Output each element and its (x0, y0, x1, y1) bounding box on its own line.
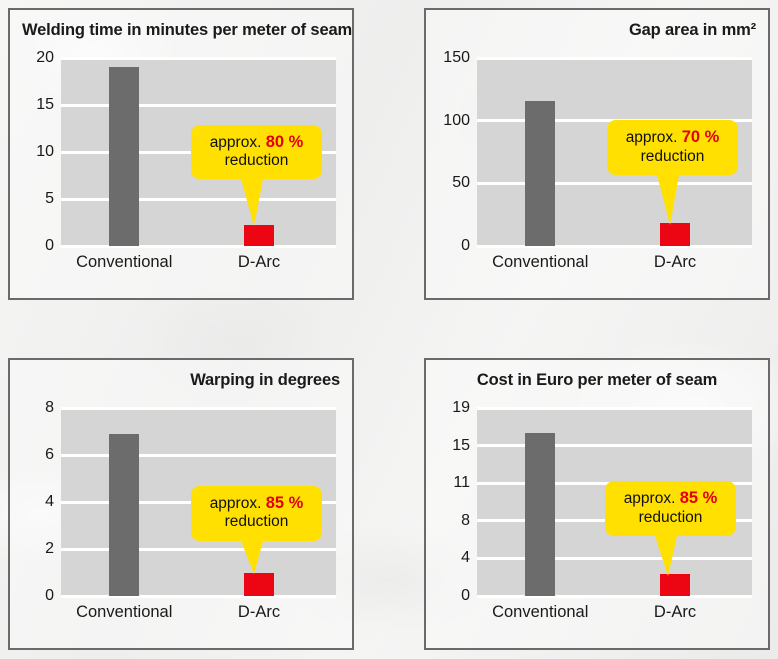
callout-percent-value: 85 % (680, 489, 718, 507)
y-axis-tick-label: 5 (45, 191, 54, 207)
plot-area: 050100150ConventionalD-Arcapprox. 70 %re… (477, 58, 752, 246)
callout-tail (657, 175, 679, 225)
plot-area: 02468ConventionalD-Arcapprox. 85 %reduct… (61, 408, 336, 596)
bar-conventional (525, 101, 555, 246)
x-axis-tick-label: Conventional (492, 603, 588, 622)
reduction-callout: approx. 70 %reduction (607, 120, 738, 175)
x-axis-tick-label: Conventional (492, 253, 588, 272)
callout-percent-value: 80 % (266, 133, 304, 151)
chart-panel-warping: Warping in degrees 02468ConventionalD-Ar… (8, 358, 354, 650)
callout-tail (655, 536, 677, 576)
callout-primary-line: approx. 70 % (613, 128, 732, 147)
callout-percent-value: 70 % (682, 128, 720, 146)
bar-conventional (525, 433, 555, 596)
plot-wrapper: 05101520ConventionalD-Arcapprox. 80 %red… (10, 46, 352, 298)
gridline (477, 182, 752, 185)
y-axis-tick-label: 0 (45, 238, 54, 254)
gridline (477, 407, 752, 410)
callout-tail (241, 541, 263, 574)
y-axis-tick-label: 4 (461, 550, 470, 566)
y-axis-tick-label: 15 (452, 438, 470, 454)
x-axis-tick-label: Conventional (76, 253, 172, 272)
y-axis-tick-label: 6 (45, 447, 54, 463)
plot-wrapper: 050100150ConventionalD-Arcapprox. 70 %re… (426, 46, 768, 298)
y-axis-tick-label: 8 (461, 513, 470, 529)
chart-title: Welding time in minutes per meter of sea… (22, 19, 340, 41)
y-axis-tick-label: 0 (461, 238, 470, 254)
chart-panel-gap-area: Gap area in mm² 050100150ConventionalD-A… (424, 8, 770, 300)
gridline (477, 557, 752, 560)
gridline (477, 57, 752, 60)
gridline (477, 595, 752, 598)
y-axis-tick-label: 0 (461, 588, 470, 604)
x-axis-tick-label: Conventional (76, 603, 172, 622)
chart-title: Warping in degrees (22, 369, 340, 391)
callout-suffix: reduction (197, 513, 316, 531)
y-axis-tick-label: 11 (453, 475, 470, 491)
bar-darc (660, 574, 690, 596)
gridline (61, 595, 336, 598)
plot-area: 05101520ConventionalD-Arcapprox. 80 %red… (61, 58, 336, 246)
gridline (61, 57, 336, 60)
chart-panel-grid: Welding time in minutes per meter of sea… (0, 0, 778, 659)
x-axis-tick-label: D-Arc (238, 603, 280, 622)
gridline (477, 245, 752, 248)
x-axis-tick-label: D-Arc (654, 253, 696, 272)
callout-tail (241, 179, 263, 226)
callout-prefix: approx. (626, 129, 682, 146)
reduction-callout: approx. 80 %reduction (191, 125, 322, 180)
gridline (61, 104, 336, 107)
y-axis-tick-label: 19 (452, 400, 470, 416)
bar-darc (244, 225, 274, 246)
gridline (61, 198, 336, 201)
y-axis-tick-label: 100 (443, 113, 470, 129)
plot-wrapper: 048111519ConventionalD-Arcapprox. 85 %re… (426, 396, 768, 648)
chart-panel-welding-time: Welding time in minutes per meter of sea… (8, 8, 354, 300)
y-axis-tick-label: 15 (36, 97, 54, 113)
callout-suffix: reduction (613, 148, 732, 166)
bar-conventional (109, 67, 139, 246)
y-axis-tick-label: 20 (36, 50, 54, 66)
callout-suffix: reduction (611, 509, 730, 527)
x-axis-tick-label: D-Arc (654, 603, 696, 622)
gridline (61, 407, 336, 410)
y-axis-tick-label: 4 (45, 494, 54, 510)
callout-suffix: reduction (197, 152, 316, 170)
y-axis-tick-label: 10 (36, 144, 54, 160)
plot-wrapper: 02468ConventionalD-Arcapprox. 85 %reduct… (10, 396, 352, 648)
bar-darc (244, 573, 274, 597)
y-axis-tick-label: 2 (45, 541, 54, 557)
callout-primary-line: approx. 85 % (197, 494, 316, 513)
reduction-callout: approx. 85 %reduction (605, 481, 736, 536)
gridline (61, 245, 336, 248)
reduction-callout: approx. 85 %reduction (191, 486, 322, 541)
chart-title: Cost in Euro per meter of seam (438, 369, 756, 391)
y-axis-tick-label: 50 (452, 175, 470, 191)
callout-primary-line: approx. 80 % (197, 133, 316, 152)
chart-panel-cost: Cost in Euro per meter of seam 048111519… (424, 358, 770, 650)
y-axis-tick-label: 0 (45, 588, 54, 604)
callout-prefix: approx. (210, 134, 266, 151)
callout-primary-line: approx. 85 % (611, 489, 730, 508)
bar-darc (660, 223, 690, 246)
chart-title: Gap area in mm² (438, 19, 756, 41)
callout-prefix: approx. (624, 490, 680, 507)
plot-area: 048111519ConventionalD-Arcapprox. 85 %re… (477, 408, 752, 596)
callout-percent-value: 85 % (266, 494, 304, 512)
gridline (61, 454, 336, 457)
x-axis-tick-label: D-Arc (238, 253, 280, 272)
y-axis-tick-label: 150 (443, 50, 470, 66)
gridline (61, 548, 336, 551)
gridline (477, 444, 752, 447)
y-axis-tick-label: 8 (45, 400, 54, 416)
bar-conventional (109, 434, 139, 596)
callout-prefix: approx. (210, 495, 266, 512)
